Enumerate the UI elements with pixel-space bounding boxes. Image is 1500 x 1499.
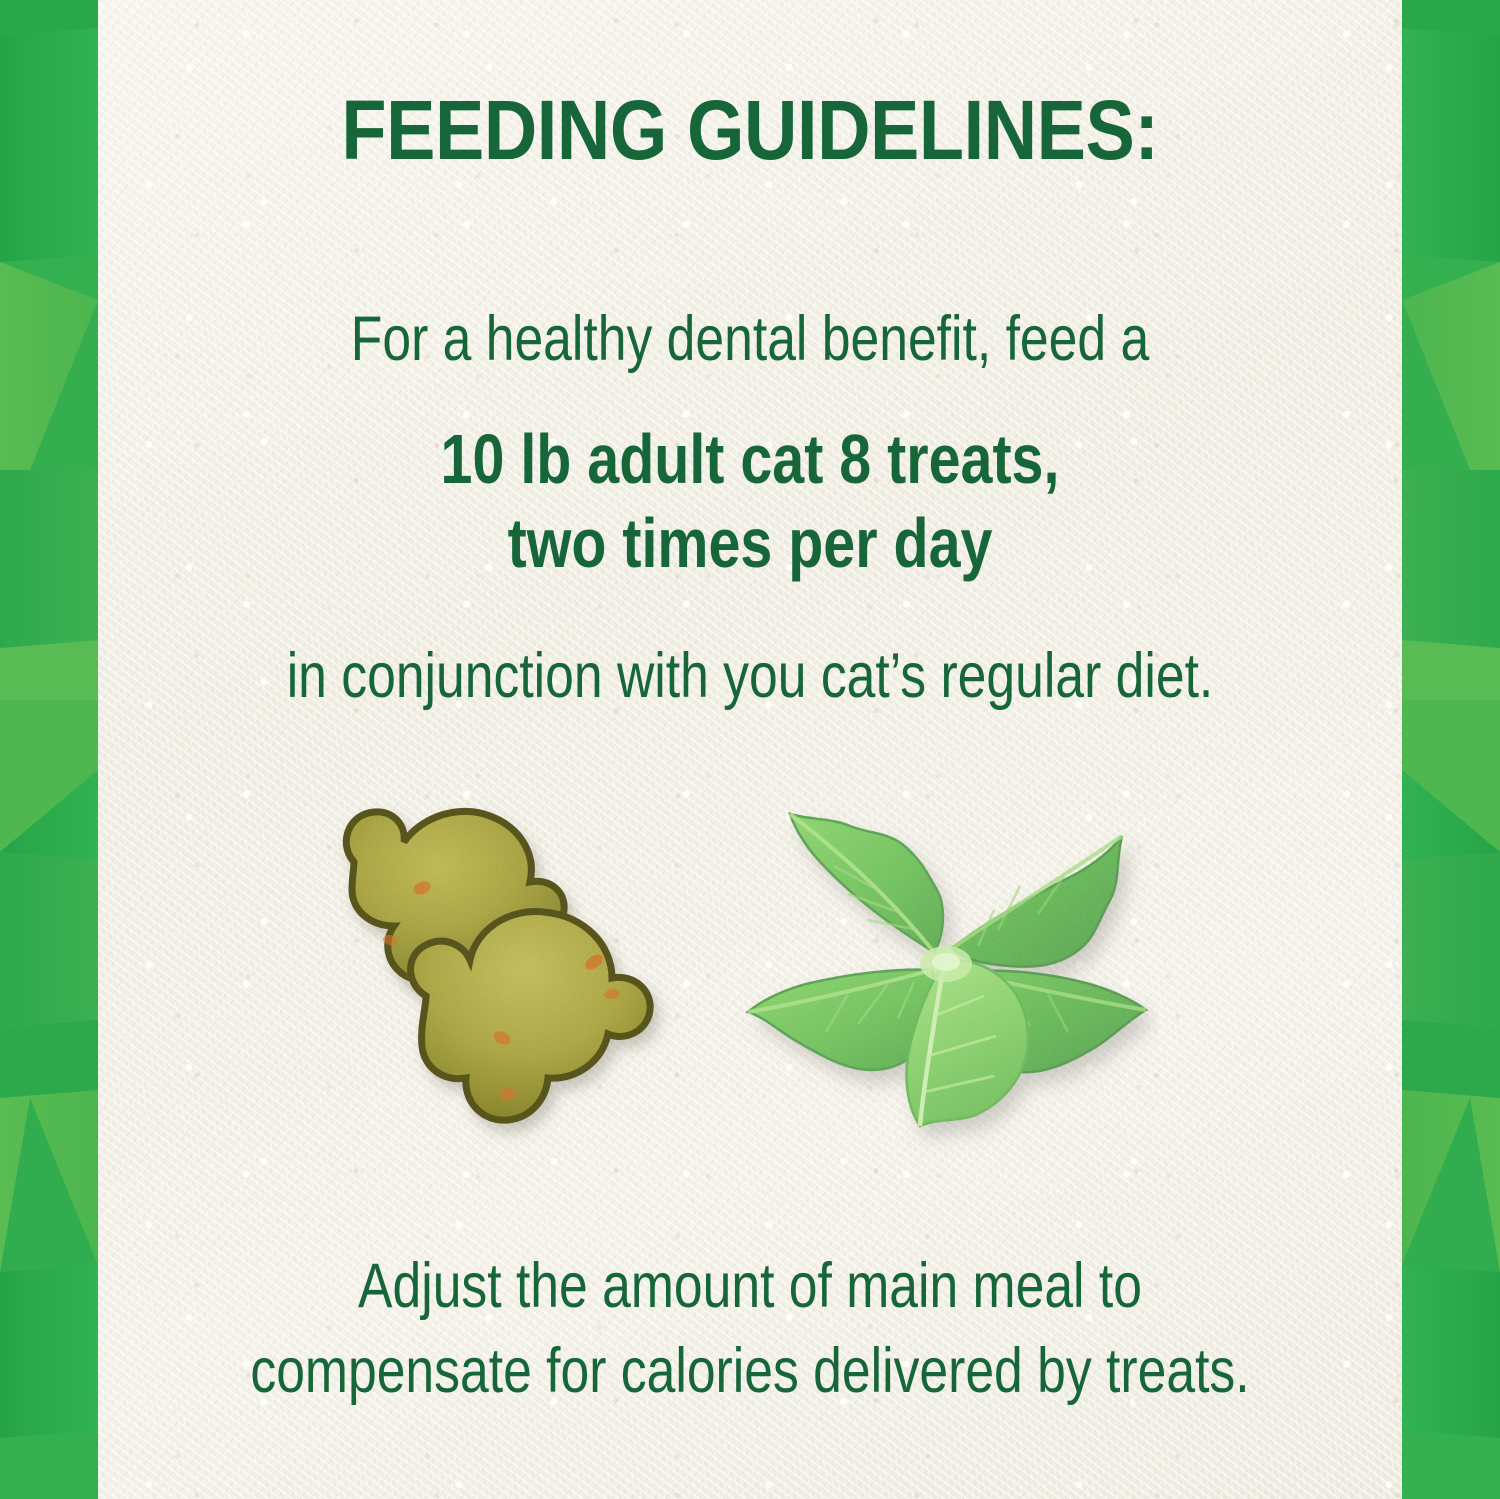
mint-leaves-photo (738, 770, 1158, 1170)
right-green-border (1402, 0, 1500, 1499)
product-imagery-band (98, 770, 1402, 1170)
left-border-facet-pattern (0, 0, 98, 1499)
emphasis-text-line-2: two times per day (215, 508, 1284, 578)
emphasis-text-line-1: 10 lb adult cat 8 treats, (215, 424, 1284, 494)
intro-text: For a healthy dental benefit, feed a (215, 308, 1284, 371)
content-column: FEEDING GUIDELINES: For a healthy dental… (98, 0, 1402, 1499)
conjunction-text: in conjunction with you cat’s regular di… (215, 645, 1284, 708)
treats-photo (294, 770, 714, 1170)
right-border-facet-pattern (1402, 0, 1500, 1499)
mint-sprig-illustration (738, 770, 1158, 1170)
feeding-guidelines-panel: FEEDING GUIDELINES: For a healthy dental… (0, 0, 1500, 1499)
left-green-border (0, 0, 98, 1499)
cat-treats-illustration (294, 770, 714, 1170)
footer-text-line-2: compensate for calories delivered by tre… (215, 1340, 1284, 1403)
page-title: FEEDING GUIDELINES: (176, 88, 1324, 172)
footer-text-line-1: Adjust the amount of main meal to (215, 1255, 1284, 1318)
